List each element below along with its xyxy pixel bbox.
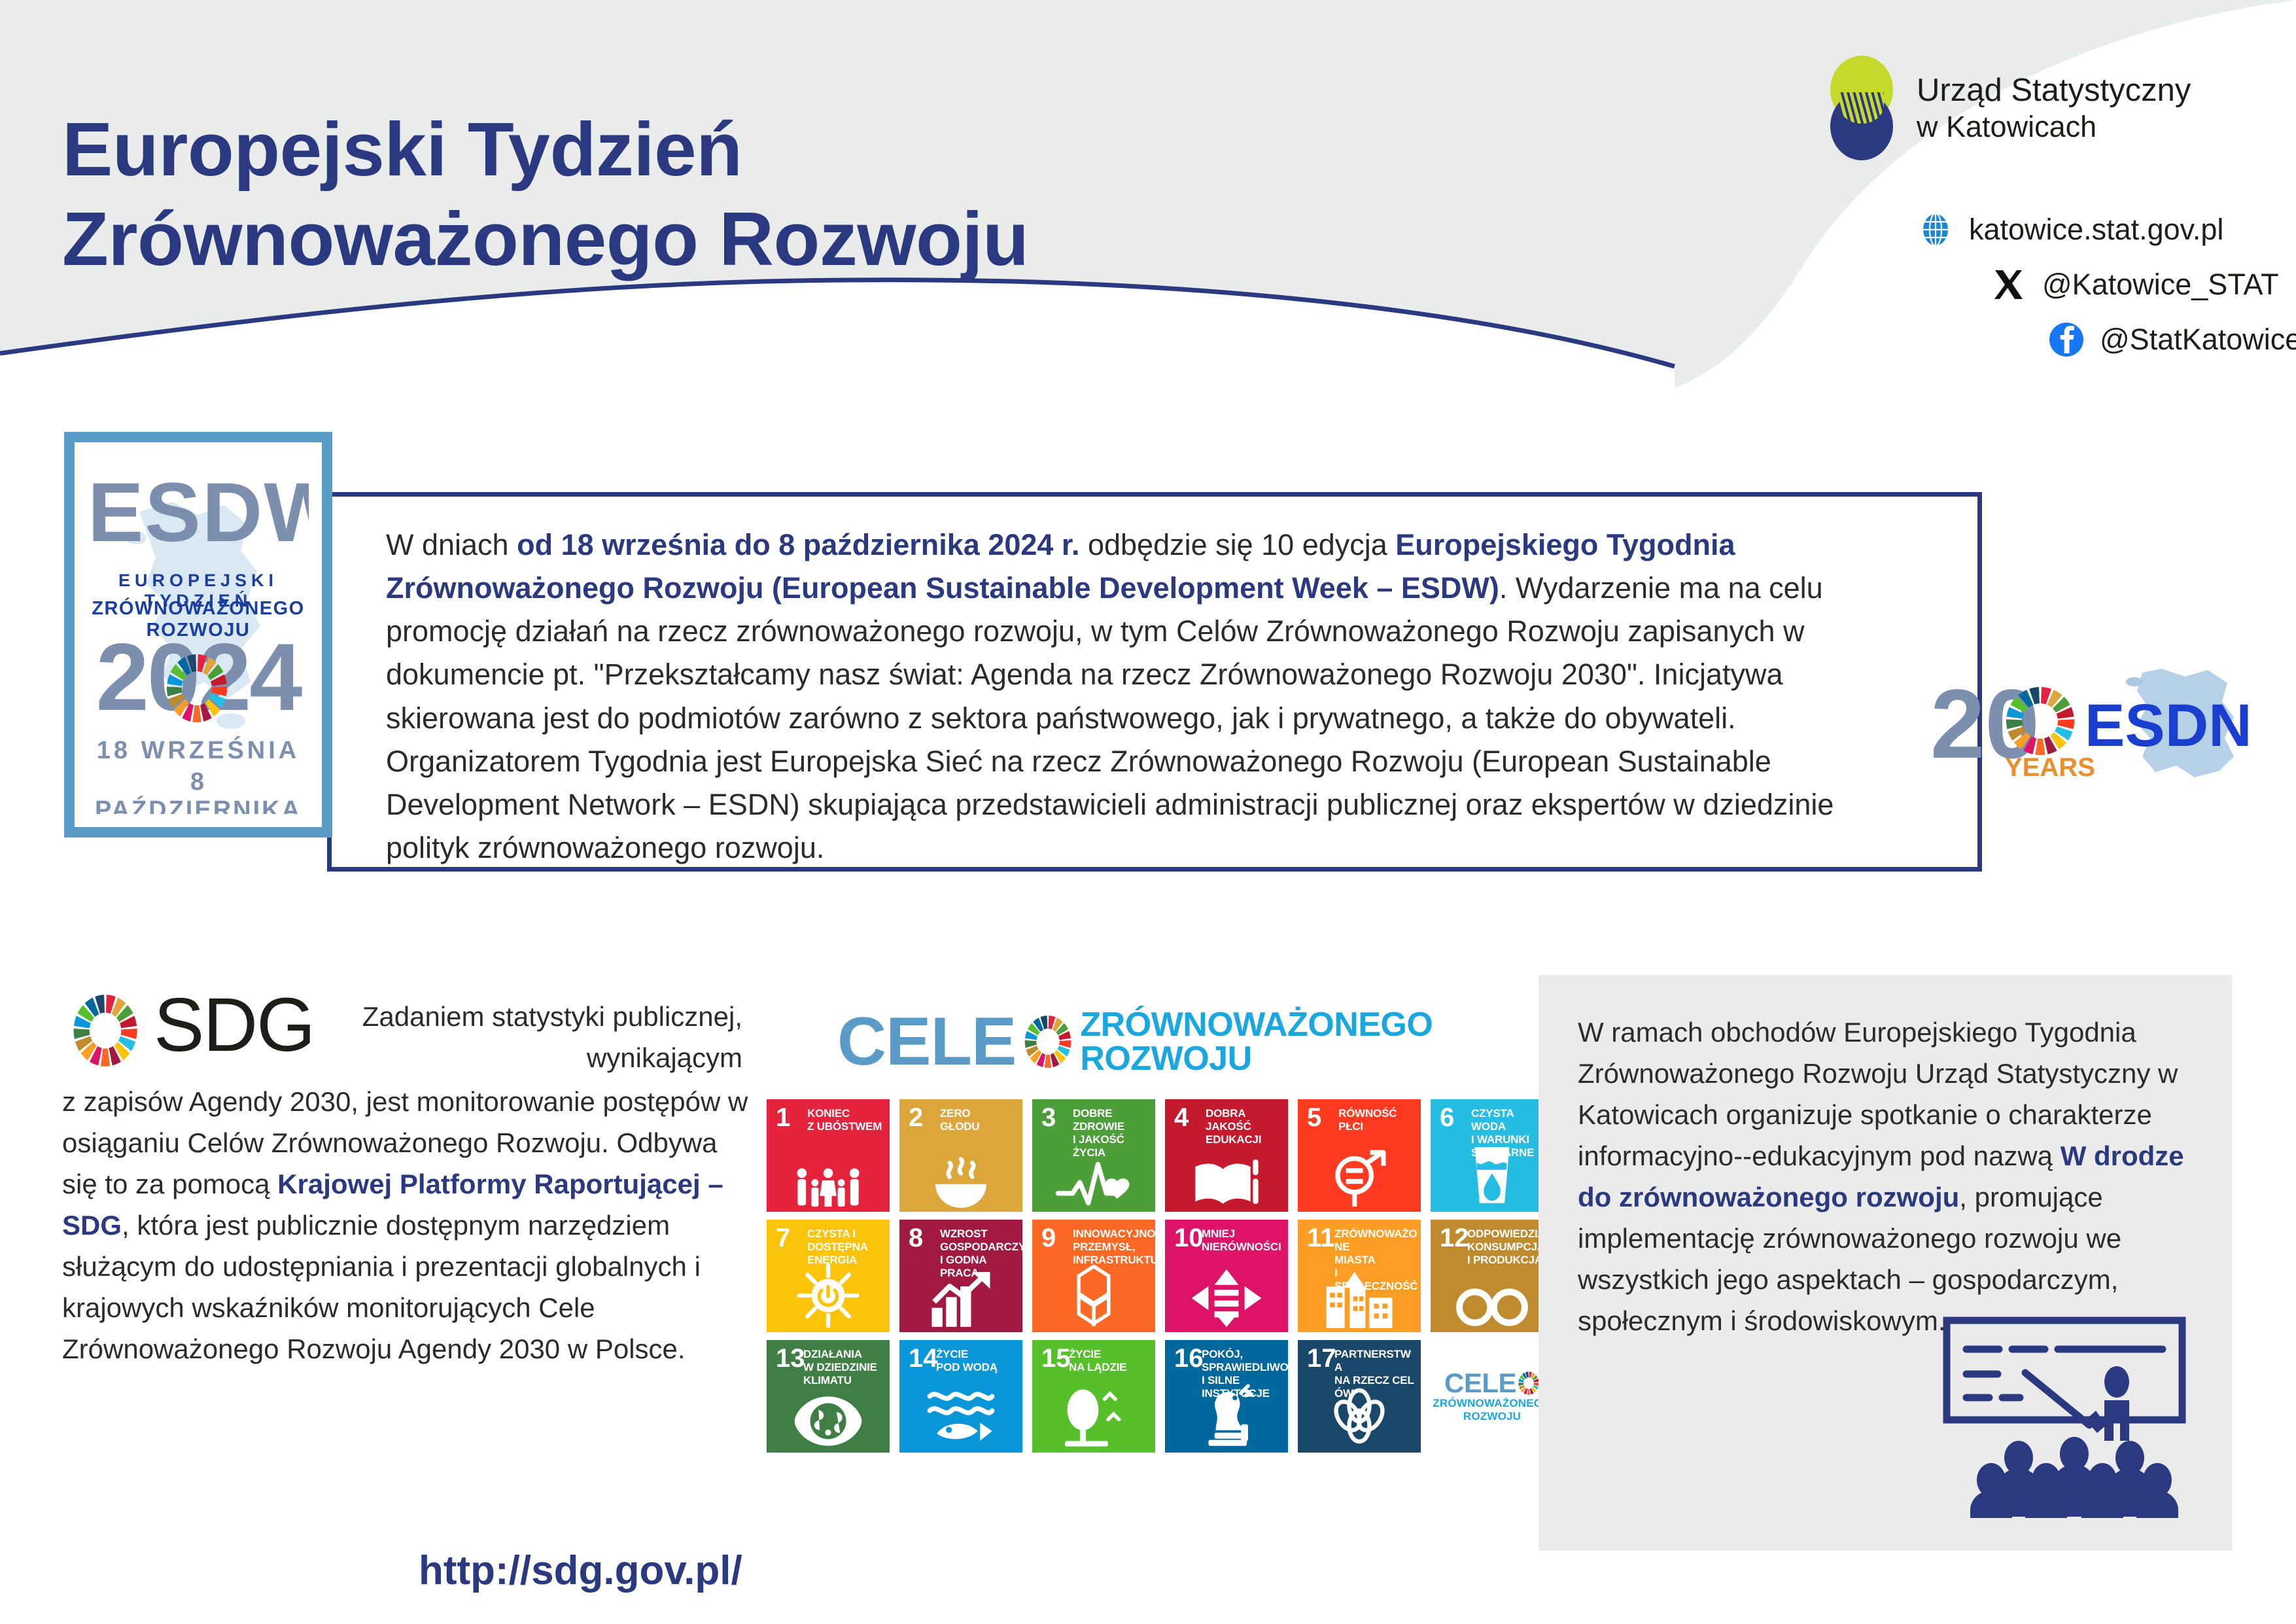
intro-dates-bold: od 18 września do 8 października 2024 r. — [517, 528, 1079, 561]
goal-number: 5 — [1307, 1104, 1321, 1131]
page-title-line1: Europejski Tydzień — [62, 105, 1370, 194]
sdg-goal-4[interactable]: 4DOBRA JAKOŚĆEDUKACJI — [1165, 1099, 1288, 1212]
event-panel: W ramach obchodów Europejskiego Tygodnia… — [1539, 975, 2232, 1551]
organization-logo: Urząd Statystyczny w Katowicach — [1825, 56, 2191, 160]
city-icon — [1298, 1268, 1421, 1328]
sdg-url-link[interactable]: http://sdg.gov.pl/ — [419, 1547, 742, 1594]
cele-header: CELE ZRÓWNOWAŻONEGO ROZWOJU — [837, 1008, 1433, 1076]
heartbeat-icon — [1032, 1148, 1155, 1208]
sdg-goal-2[interactable]: 2ZEROGŁODU — [899, 1099, 1022, 1212]
goal-number: 4 — [1174, 1104, 1189, 1131]
org-name-line2: w Katowicach — [1917, 109, 2191, 144]
cele-word: CELE — [837, 1008, 1016, 1076]
goal-number: 12 — [1440, 1225, 1469, 1251]
goal-number: 2 — [909, 1104, 923, 1131]
org-name-line1: Urząd Statystyczny — [1917, 72, 2191, 110]
intro-part-a: W dniach — [386, 528, 517, 561]
goal-label: ODPOWIEDZIALNAKONSUMPCJAI PRODUKCJA — [1467, 1227, 1550, 1267]
goal-label: CZYSTA I DOSTĘPNAENERGIA — [807, 1227, 886, 1267]
bowl-icon — [899, 1148, 1022, 1208]
sdg-goals-grid: 1KONIECZ UBÓSTWEM2ZEROGŁODU3DOBRE ZDROWI… — [767, 1099, 1554, 1453]
sdg-goal-11[interactable]: 11ZRÓWNOWAŻO NEMIASTAI SPOŁECZNOŚĆ I — [1298, 1220, 1421, 1332]
presentation-audience-icon — [1921, 1309, 2202, 1525]
poster-root: Europejski Tydzień Zrównoważonego Rozwoj… — [0, 0, 2296, 1624]
sdg-body-c: , która jest publicznie dostępnym narzęd… — [62, 1210, 701, 1364]
organization-name: Urząd Statystyczny w Katowicach — [1917, 72, 2191, 145]
dove-gavel-icon — [1165, 1388, 1288, 1449]
sdg-goal-14[interactable]: 14ŻYCIEPOD WODĄ — [899, 1340, 1022, 1453]
intro-part-e: . Wydarzenie ma na celu promocję działań… — [386, 571, 1834, 864]
tree-birds-icon — [1032, 1388, 1155, 1449]
sdg-wheel-icon — [1518, 1371, 1540, 1396]
esdn-logo: 20 YEARS ESDN — [1926, 661, 2267, 785]
goal-number: 16 — [1174, 1345, 1204, 1371]
facebook-handle-text: @StatKatowice — [2100, 323, 2296, 357]
gus-ellipses-icon — [1825, 56, 1898, 160]
sdg-goal-8[interactable]: 8WZROSTGOSPODARCZYI GODNA PRACA — [899, 1220, 1022, 1332]
sdg-goal-7[interactable]: 7CZYSTA I DOSTĘPNAENERGIA — [767, 1220, 890, 1332]
climate-eye-icon — [767, 1388, 890, 1449]
globe-icon — [1917, 211, 1955, 249]
cele-badge-line2: ROZWOJU — [1463, 1410, 1521, 1423]
goal-number: 10 — [1174, 1225, 1204, 1251]
sdg-lead-text: Zadaniem statystyki publicznej, wynikają… — [324, 996, 742, 1078]
goal-label: RÓWNOŚĆPŁCI — [1338, 1107, 1417, 1133]
esdw-acronym: ESDW — [88, 471, 309, 555]
goal-label: ŻYCIENA LĄDZIE — [1069, 1348, 1151, 1374]
goal-number: 1 — [776, 1104, 790, 1131]
esdw-date-line1: 18 WRZEŚNIA — [88, 737, 309, 765]
water-glass-icon — [1431, 1148, 1554, 1208]
goal-number: 3 — [1041, 1104, 1056, 1131]
sdg-goal-10[interactable]: 10MNIEJNIERÓWNOŚCI — [1165, 1220, 1288, 1332]
rings-icon — [1298, 1388, 1421, 1449]
esdn-acronym: ESDN — [2085, 692, 2252, 759]
contact-list: katowice.stat.gov.pl @Katowice_STAT @Sta… — [1917, 209, 2296, 360]
sdg-logo-row: SDG Zadaniem statystyki publicznej, wyni… — [62, 988, 749, 1067]
event-part-b: -edukacyjnym pod nazwą — [1743, 1140, 2061, 1171]
sdg-text-column: SDG Zadaniem statystyki publicznej, wyni… — [62, 988, 749, 1369]
sdg-wheel-icon — [1022, 1014, 1073, 1070]
intro-paragraph: W dniach od 18 września do 8 październik… — [386, 523, 1910, 870]
sun-energy-icon — [767, 1268, 890, 1328]
goal-label: MNIEJNIERÓWNOŚCI — [1202, 1227, 1284, 1254]
sdg-goal-16[interactable]: 16POKÓJ,SPRAWIEDLIWOŚĆI SILNE INSTYTUCJE — [1165, 1340, 1288, 1453]
website-text: katowice.stat.gov.pl — [1969, 213, 2223, 247]
goal-number: 15 — [1041, 1345, 1071, 1371]
contact-facebook[interactable]: @StatKatowice — [1917, 319, 2296, 360]
cele-subtitle-line1: ZRÓWNOWAŻONEGO — [1080, 1008, 1433, 1042]
goal-label: DZIAŁANIAW DZIEDZINIEKLIMATU — [803, 1348, 886, 1387]
goal-label: ŻYCIEPOD WODĄ — [936, 1348, 1018, 1374]
goal-label: KONIECZ UBÓSTWEM — [807, 1107, 886, 1133]
sdg-goal-9[interactable]: 9INNOWACYJNOŚĆ,PRZEMYSŁ,INFRASTRUKTURA — [1032, 1220, 1155, 1332]
sdg-goal-5[interactable]: 5RÓWNOŚĆPŁCI — [1298, 1099, 1421, 1212]
goal-number: 11 — [1307, 1225, 1334, 1251]
cele-badge: CELEZRÓWNOWAŻONEGOROZWOJU — [1431, 1340, 1554, 1453]
gender-equality-icon — [1298, 1148, 1421, 1208]
sdg-wheel-icon — [70, 992, 141, 1069]
sdg-goal-17[interactable]: 17PARTNERSTW ANA RZECZ CEL ÓW — [1298, 1340, 1421, 1453]
growth-chart-icon — [899, 1268, 1022, 1328]
intro-part-c: odbędzie się 10 edycja — [1079, 528, 1395, 561]
sdg-wordmark: SDG — [154, 987, 314, 1063]
goal-number: 6 — [1440, 1104, 1454, 1131]
sdg-goal-1[interactable]: 1KONIECZ UBÓSTWEM — [767, 1099, 890, 1212]
goal-label: DOBRA JAKOŚĆEDUKACJI — [1206, 1107, 1284, 1146]
cele-subtitle: ZRÓWNOWAŻONEGO ROZWOJU — [1080, 1008, 1433, 1076]
sdg-goal-6[interactable]: 6CZYSTA WODAI WARUNKISANITARNE — [1431, 1099, 1554, 1212]
goal-number: 17 — [1307, 1345, 1336, 1371]
goal-number: 8 — [909, 1225, 923, 1251]
sdg-wheel-icon — [164, 652, 230, 725]
goal-number: 7 — [776, 1225, 790, 1251]
infinity-icon — [1431, 1268, 1554, 1328]
page-title: Europejski Tydzień Zrównoważonego Rozwoj… — [62, 105, 1370, 284]
sdg-goal-13[interactable]: 13DZIAŁANIAW DZIEDZINIEKLIMATU — [767, 1340, 890, 1453]
family-icon — [767, 1148, 890, 1208]
goal-number: 13 — [776, 1345, 805, 1371]
book-icon — [1165, 1148, 1288, 1208]
contact-x-twitter[interactable]: @Katowice_STAT — [1917, 264, 2296, 305]
event-paragraph: W ramach obchodów Europejskiego Tygodnia… — [1578, 1012, 2186, 1341]
sdg-goal-15[interactable]: 15ŻYCIENA LĄDZIE — [1032, 1340, 1155, 1453]
x-handle-text: @Katowice_STAT — [2042, 268, 2279, 302]
contact-website[interactable]: katowice.stat.gov.pl — [1917, 209, 2296, 250]
goal-label: INNOWACYJNOŚĆ,PRZEMYSŁ,INFRASTRUKTURA — [1073, 1227, 1151, 1267]
fish-waves-icon — [899, 1388, 1022, 1449]
cele-subtitle-line2: ROZWOJU — [1080, 1042, 1433, 1076]
sdg-goal-12[interactable]: 12ODPOWIEDZIALNAKONSUMPCJAI PRODUKCJA — [1431, 1220, 1554, 1332]
cele-badge-line1: ZRÓWNOWAŻONEGO — [1433, 1397, 1551, 1410]
goal-label: ZEROGŁODU — [940, 1107, 1018, 1133]
esdw-date-line2: 8 PAŹDZIERNIKA — [88, 768, 309, 818]
esdw-logo: ESDW EUROPEJSKI TYDZIEŃ ZRÓWNOWAŻONEGO R… — [64, 432, 332, 838]
equals-arrows-icon — [1165, 1268, 1288, 1328]
esdn-years-label: YEARS — [2005, 753, 2095, 782]
facebook-icon — [2047, 321, 2085, 359]
sdg-body-text: z zapisów Agendy 2030, jest monitorowani… — [62, 1081, 749, 1369]
x-twitter-icon — [1990, 266, 2028, 304]
industry-cubes-icon — [1032, 1268, 1155, 1328]
page-title-line2: Zrównoważonego Rozwoju — [62, 194, 1370, 284]
cele-badge-word: CELE — [1444, 1369, 1516, 1397]
goal-number: 9 — [1041, 1225, 1056, 1251]
sdg-goal-3[interactable]: 3DOBRE ZDROWIEI JAKOŚĆ ŻYCIA — [1032, 1099, 1155, 1212]
goal-number: 14 — [909, 1345, 938, 1371]
